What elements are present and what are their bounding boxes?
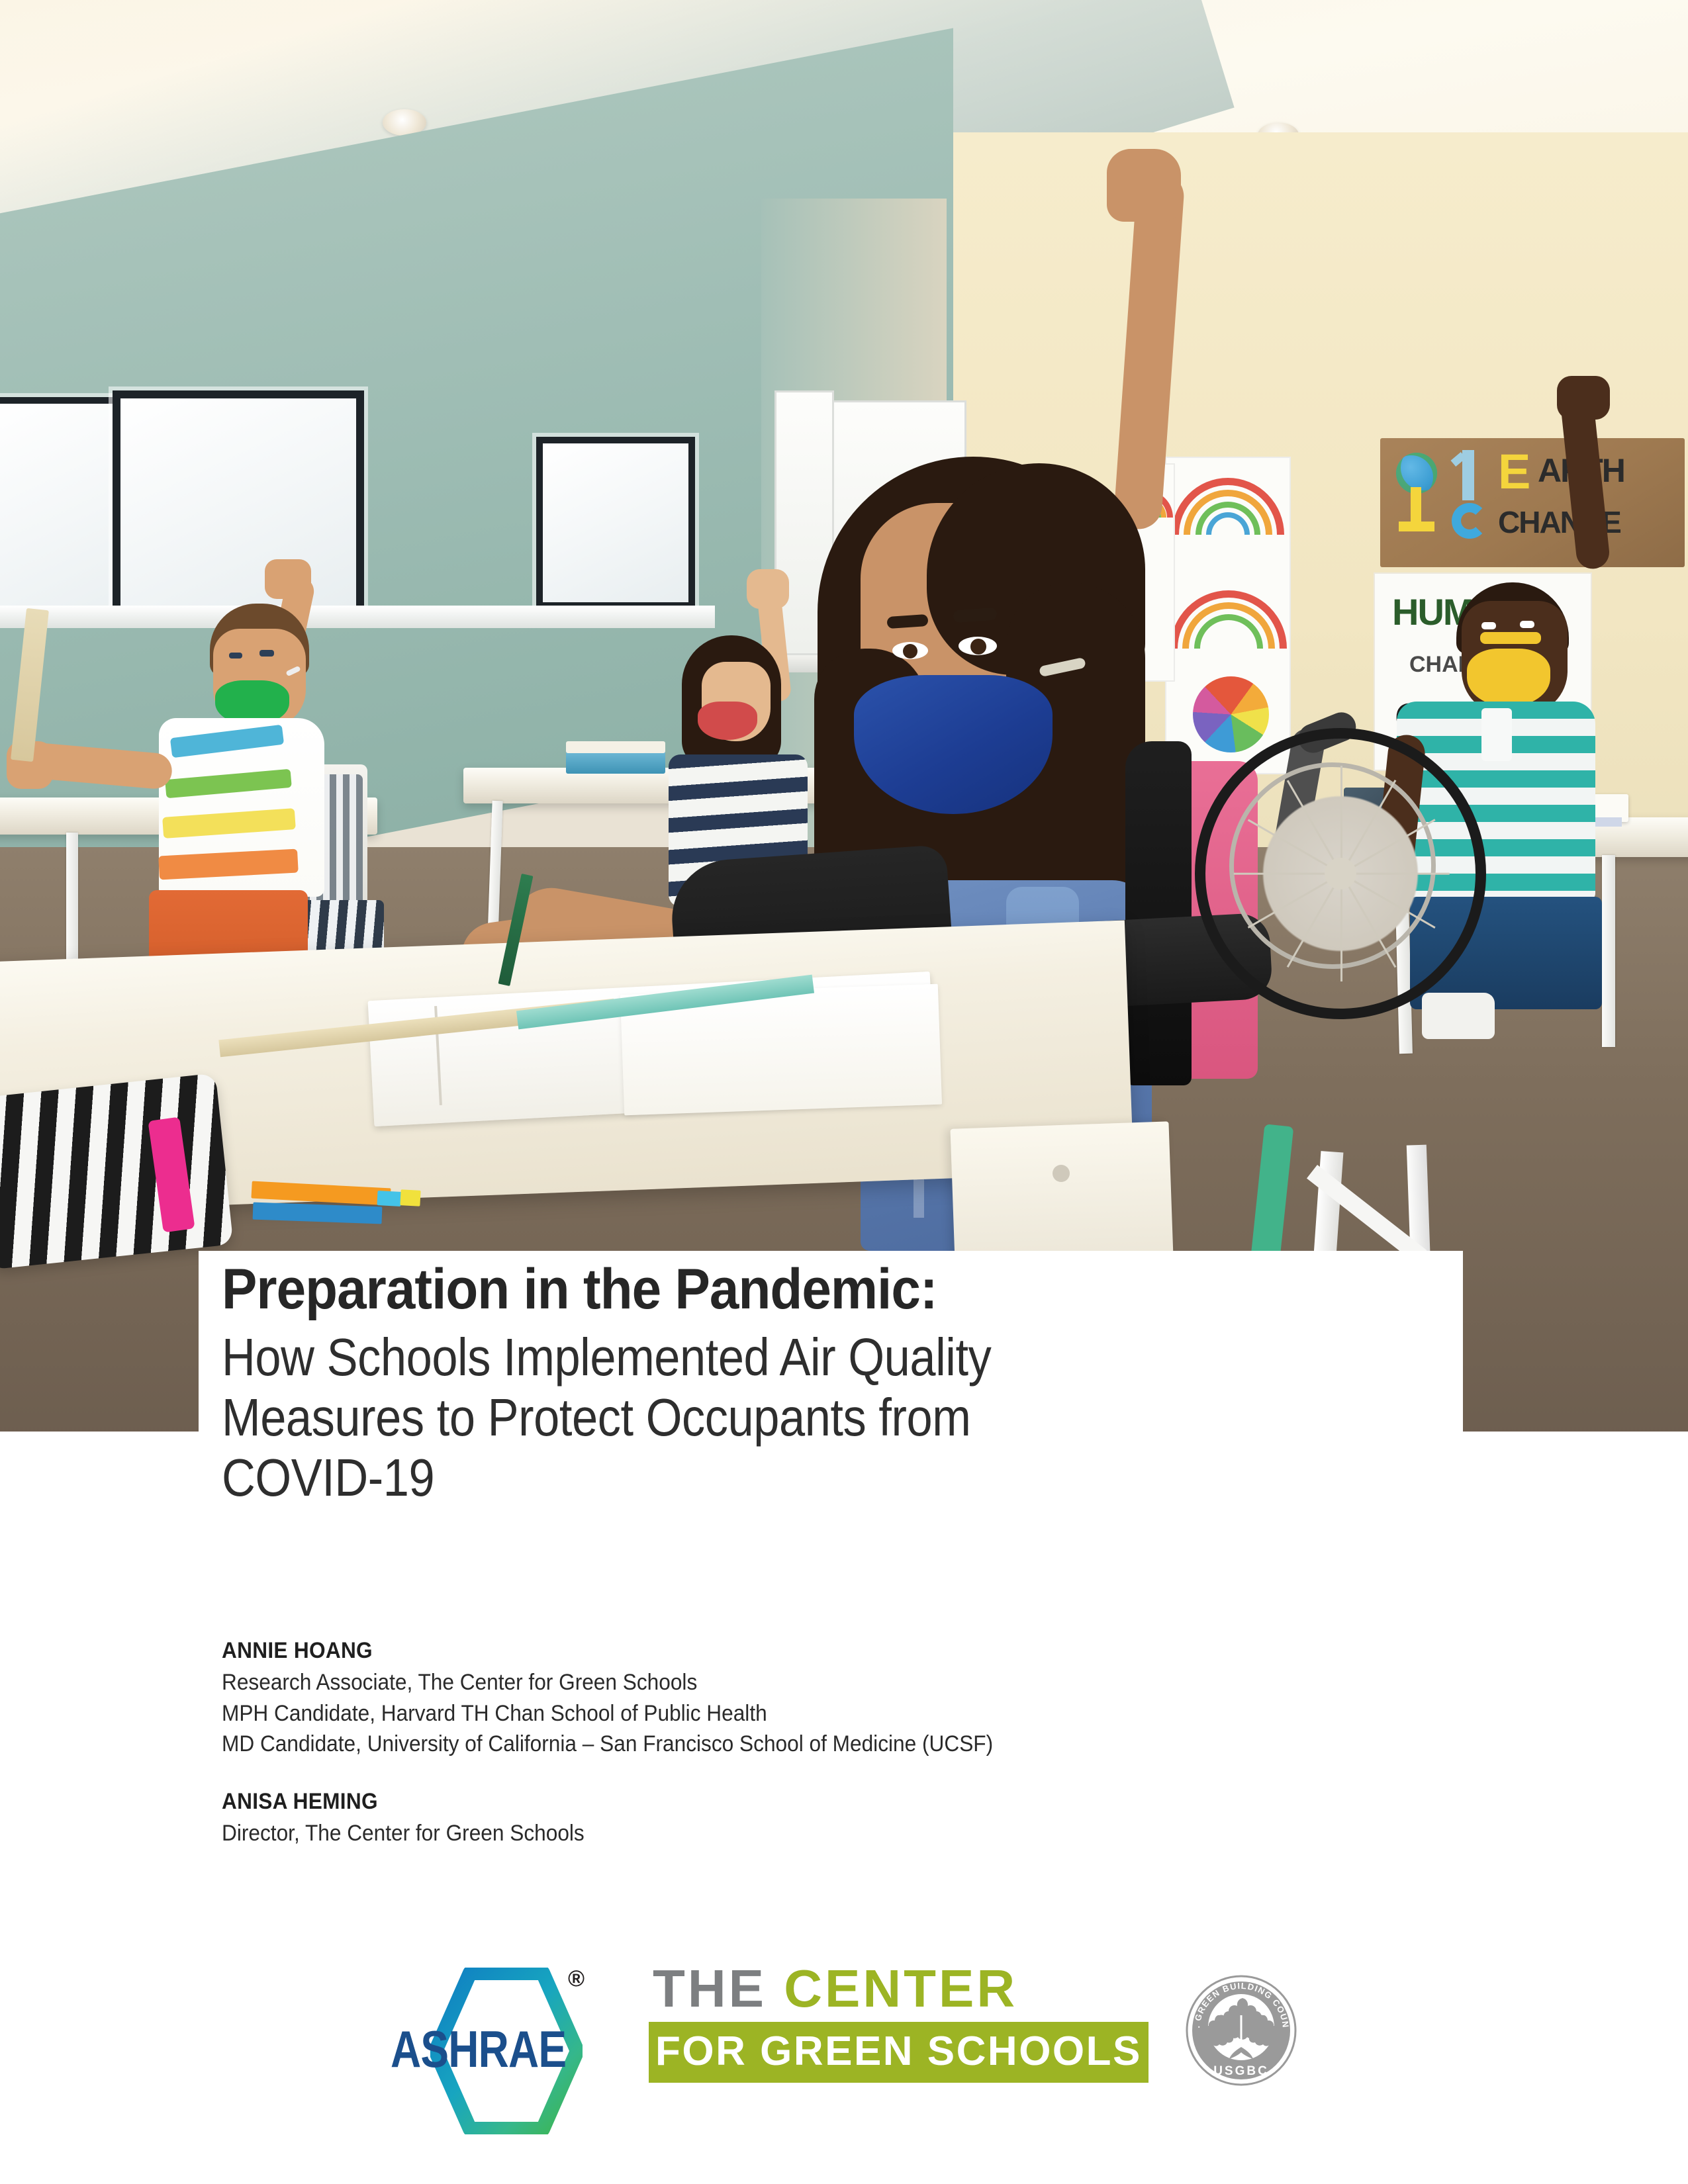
earth-one-stem	[1411, 487, 1421, 524]
hand	[747, 569, 789, 609]
logo-row: ASHRAE ® THE CENTER FOR GREEN SCHOOLS	[0, 1962, 1688, 2161]
marker	[377, 1191, 401, 1206]
author-entry: ANISA HEMING Director, The Center for Gr…	[222, 1786, 1479, 1849]
page-title: Preparation in the Pandemic: How Schools…	[222, 1261, 1446, 1507]
desk-knob	[1053, 1165, 1070, 1182]
window-sill	[0, 606, 715, 628]
desk-leg	[1602, 855, 1615, 1047]
center-for-green-schools-logo: THE CENTER FOR GREEN SCHOOLS	[649, 1962, 1132, 2095]
pencil-case	[0, 1073, 234, 1269]
usgbc-seal-logo: U.S. GREEN BUILDING COUNCIL USGBC	[1185, 1974, 1297, 2087]
color-wheel-art	[1193, 676, 1269, 752]
eye	[892, 642, 928, 659]
eye	[1520, 621, 1534, 628]
cover-photo: E ARTH CHANCE HUMAN CHANGE CLIMA	[0, 0, 1688, 1432]
cgs-top-line: THE CENTER	[649, 1962, 1132, 2015]
author-entry: ANNIE HOANG Research Associate, The Cent…	[222, 1635, 1479, 1759]
eye	[959, 637, 997, 655]
author-name: ANNIE HOANG	[222, 1635, 1391, 1667]
title-subtitle: How Schools Implemented Air Quality Meas…	[222, 1327, 1299, 1508]
earth-one-base	[1399, 522, 1434, 531]
mask-top	[1480, 632, 1541, 644]
author-affiliation: MD Candidate, University of California –…	[222, 1729, 1391, 1759]
author-affiliation: Director, The Center for Green Schools	[222, 1818, 1391, 1848]
iris	[903, 644, 917, 659]
ashrae-logo: ASHRAE ®	[391, 1962, 596, 2141]
usgbc-inner-text: USGBC	[1213, 2064, 1269, 2078]
title-subtitle-line-1: How Schools Implemented Air Quality	[222, 1327, 1299, 1388]
eye	[229, 653, 242, 659]
raised-fist	[1107, 149, 1181, 222]
letter-c-icon	[1452, 503, 1487, 539]
hand	[265, 559, 311, 599]
window-pane	[543, 443, 688, 602]
window-frame	[113, 390, 364, 615]
eye	[259, 650, 274, 657]
corkboard-poster: E ARTH CHANCE	[1380, 438, 1685, 567]
window-pane	[120, 398, 356, 608]
author-spacer	[222, 1759, 1479, 1786]
author-block: ANNIE HOANG Research Associate, The Cent…	[222, 1635, 1479, 1849]
cgs-bottom-line: FOR GREEN SCHOOLS	[649, 2022, 1149, 2083]
iris	[970, 639, 986, 655]
title-subtitle-line-2: Measures to Protect Occupants from	[222, 1387, 1299, 1449]
author-affiliation: MPH Candidate, Harvard TH Chan School of…	[222, 1698, 1391, 1729]
cgs-center: CENTER	[784, 1959, 1017, 2018]
title-main: Preparation in the Pandemic:	[222, 1261, 1361, 1318]
sneaker	[1422, 993, 1495, 1039]
cgs-the: THE	[653, 1959, 767, 2018]
author-affiliation: Research Associate, The Center for Green…	[222, 1667, 1391, 1698]
title-subtitle-line-3: COVID-19	[222, 1447, 1299, 1509]
author-name: ANISA HEMING	[222, 1786, 1391, 1818]
poster-letter-e: E	[1498, 447, 1528, 496]
face-mask	[698, 702, 757, 740]
window-frame	[536, 437, 695, 609]
hand	[1557, 376, 1610, 420]
face-mask	[1467, 649, 1550, 707]
rainbow-poster	[1165, 457, 1291, 774]
ashrae-wordmark: ASHRAE	[391, 2023, 543, 2075]
eye	[1481, 622, 1496, 629]
book-stack	[566, 751, 665, 774]
marker	[400, 1189, 420, 1206]
usgbc-seal-icon: U.S. GREEN BUILDING COUNCIL USGBC	[1185, 1974, 1297, 2087]
book-page	[566, 741, 665, 753]
wheelchair-wheel	[1195, 728, 1486, 1019]
wheelchair-back-frame	[1125, 741, 1192, 1085]
polo-placket	[1481, 708, 1512, 761]
registered-trademark-icon: ®	[568, 1966, 585, 1992]
